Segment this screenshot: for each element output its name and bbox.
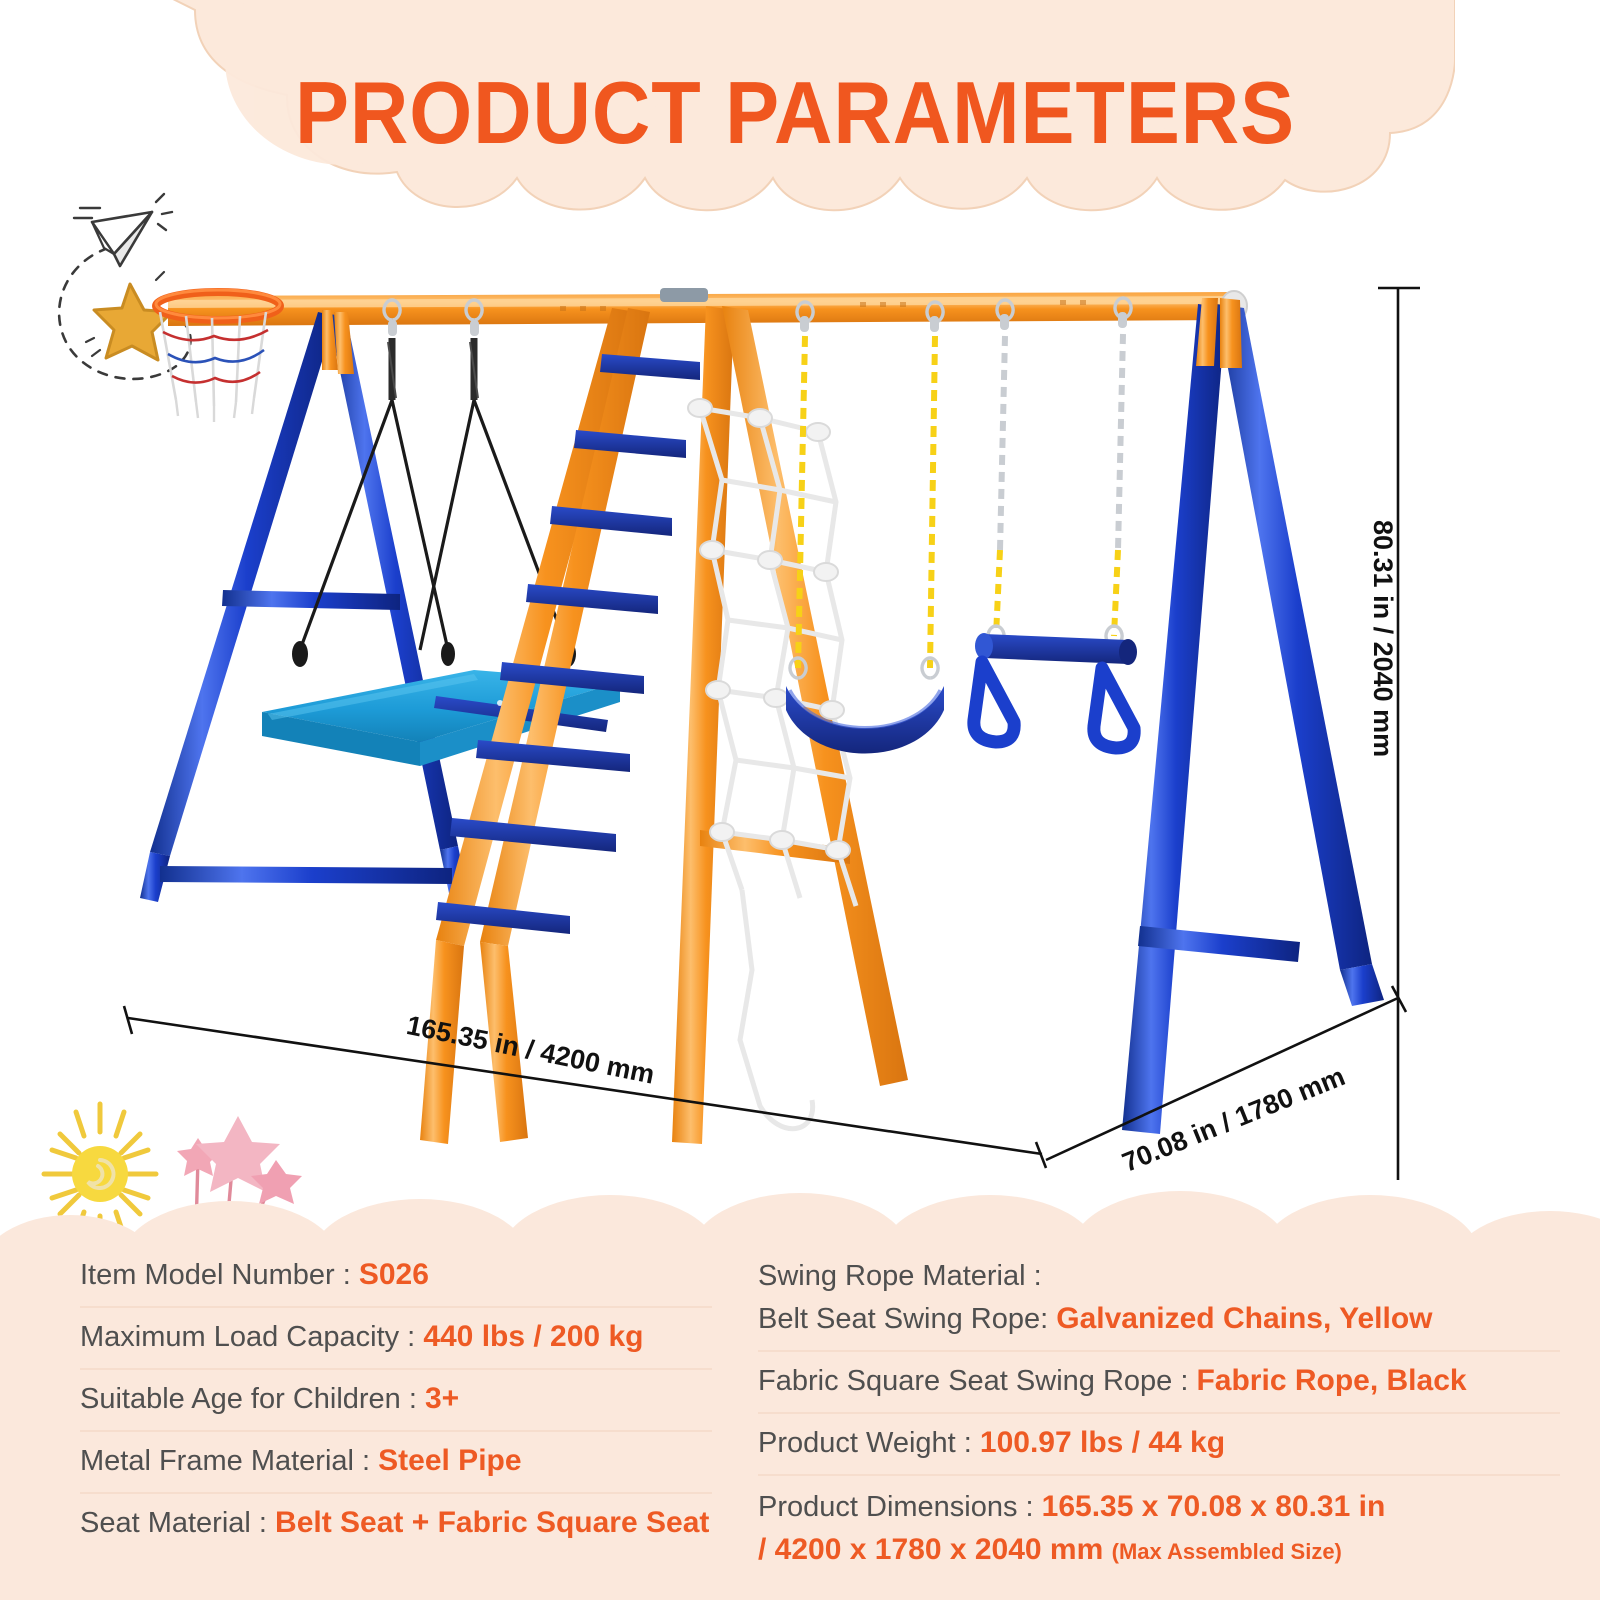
spec-label-weight: Product Weight : xyxy=(758,1427,980,1459)
spec-label-seat: Seat Material : xyxy=(80,1507,275,1539)
spec-label-rope-heading: Swing Rope Material : xyxy=(758,1255,1560,1297)
spec-row-frame: Metal Frame Material : Steel Pipe xyxy=(80,1432,712,1494)
spec-row-load: Maximum Load Capacity : 440 lbs / 200 kg xyxy=(80,1308,712,1370)
spec-value-age: 3+ xyxy=(425,1382,459,1415)
spec-row-model: Item Model Number : S026 xyxy=(80,1246,712,1308)
spec-value-model: S026 xyxy=(359,1258,429,1291)
spec-row-fabric-rope: Fabric Square Seat Swing Rope : Fabric R… xyxy=(758,1352,1560,1414)
spec-value-seat: Belt Seat + Fabric Square Seat xyxy=(275,1506,709,1539)
spec-label-model: Item Model Number : xyxy=(80,1259,359,1291)
spec-value-dimensions-note: (Max Assembled Size) xyxy=(1112,1539,1342,1564)
trapeze-bar-swing xyxy=(974,298,1137,748)
spec-label-fabric-rope: Fabric Square Seat Swing Rope : xyxy=(758,1365,1196,1397)
spec-column-left: Item Model Number : S026 Maximum Load Ca… xyxy=(0,1240,740,1600)
spec-row-weight: Product Weight : 100.97 lbs / 44 kg xyxy=(758,1414,1560,1476)
spec-label-load: Maximum Load Capacity : xyxy=(80,1321,423,1353)
spec-value-fabric-rope: Fabric Rope, Black xyxy=(1196,1364,1466,1397)
spec-row-seat: Seat Material : Belt Seat + Fabric Squar… xyxy=(80,1494,712,1556)
spec-value-dimensions-in: 165.35 x 70.08 x 80.31 in xyxy=(1042,1490,1386,1523)
left-a-frame xyxy=(140,310,468,902)
dimension-label-height: 80.31 in / 2040 mm xyxy=(1367,520,1398,757)
spec-row-dimensions: Product Dimensions : 165.35 x 70.08 x 80… xyxy=(758,1476,1560,1581)
spec-label-dimensions: Product Dimensions : xyxy=(758,1491,1042,1523)
spec-value-load: 440 lbs / 200 kg xyxy=(423,1320,643,1353)
spec-panel: Item Model Number : S026 Maximum Load Ca… xyxy=(0,1185,1600,1600)
spec-row-belt-rope: Swing Rope Material : Belt Seat Swing Ro… xyxy=(758,1246,1560,1352)
spec-value-frame: Steel Pipe xyxy=(378,1444,521,1477)
spec-row-age: Suitable Age for Children : 3+ xyxy=(80,1370,712,1432)
spec-value-dimensions-mm: / 4200 x 1780 x 2040 mm xyxy=(758,1533,1112,1566)
page-title: PRODUCT PARAMETERS xyxy=(188,62,1402,164)
spec-value-weight: 100.97 lbs / 44 kg xyxy=(980,1426,1225,1459)
spec-value-belt-rope: Galvanized Chains, Yellow xyxy=(1056,1302,1432,1335)
title-cloud-banner: PRODUCT PARAMETERS xyxy=(135,0,1455,230)
product-illustration xyxy=(0,250,1600,1180)
spec-label-age: Suitable Age for Children : xyxy=(80,1383,425,1415)
spec-label-belt-rope: Belt Seat Swing Rope: xyxy=(758,1303,1056,1335)
right-a-frame xyxy=(1122,298,1384,1134)
spec-label-frame: Metal Frame Material : xyxy=(80,1445,378,1477)
spec-column-right: Swing Rope Material : Belt Seat Swing Ro… xyxy=(740,1240,1600,1600)
infographic-page: PRODUCT PARAMETERS xyxy=(0,0,1600,1600)
